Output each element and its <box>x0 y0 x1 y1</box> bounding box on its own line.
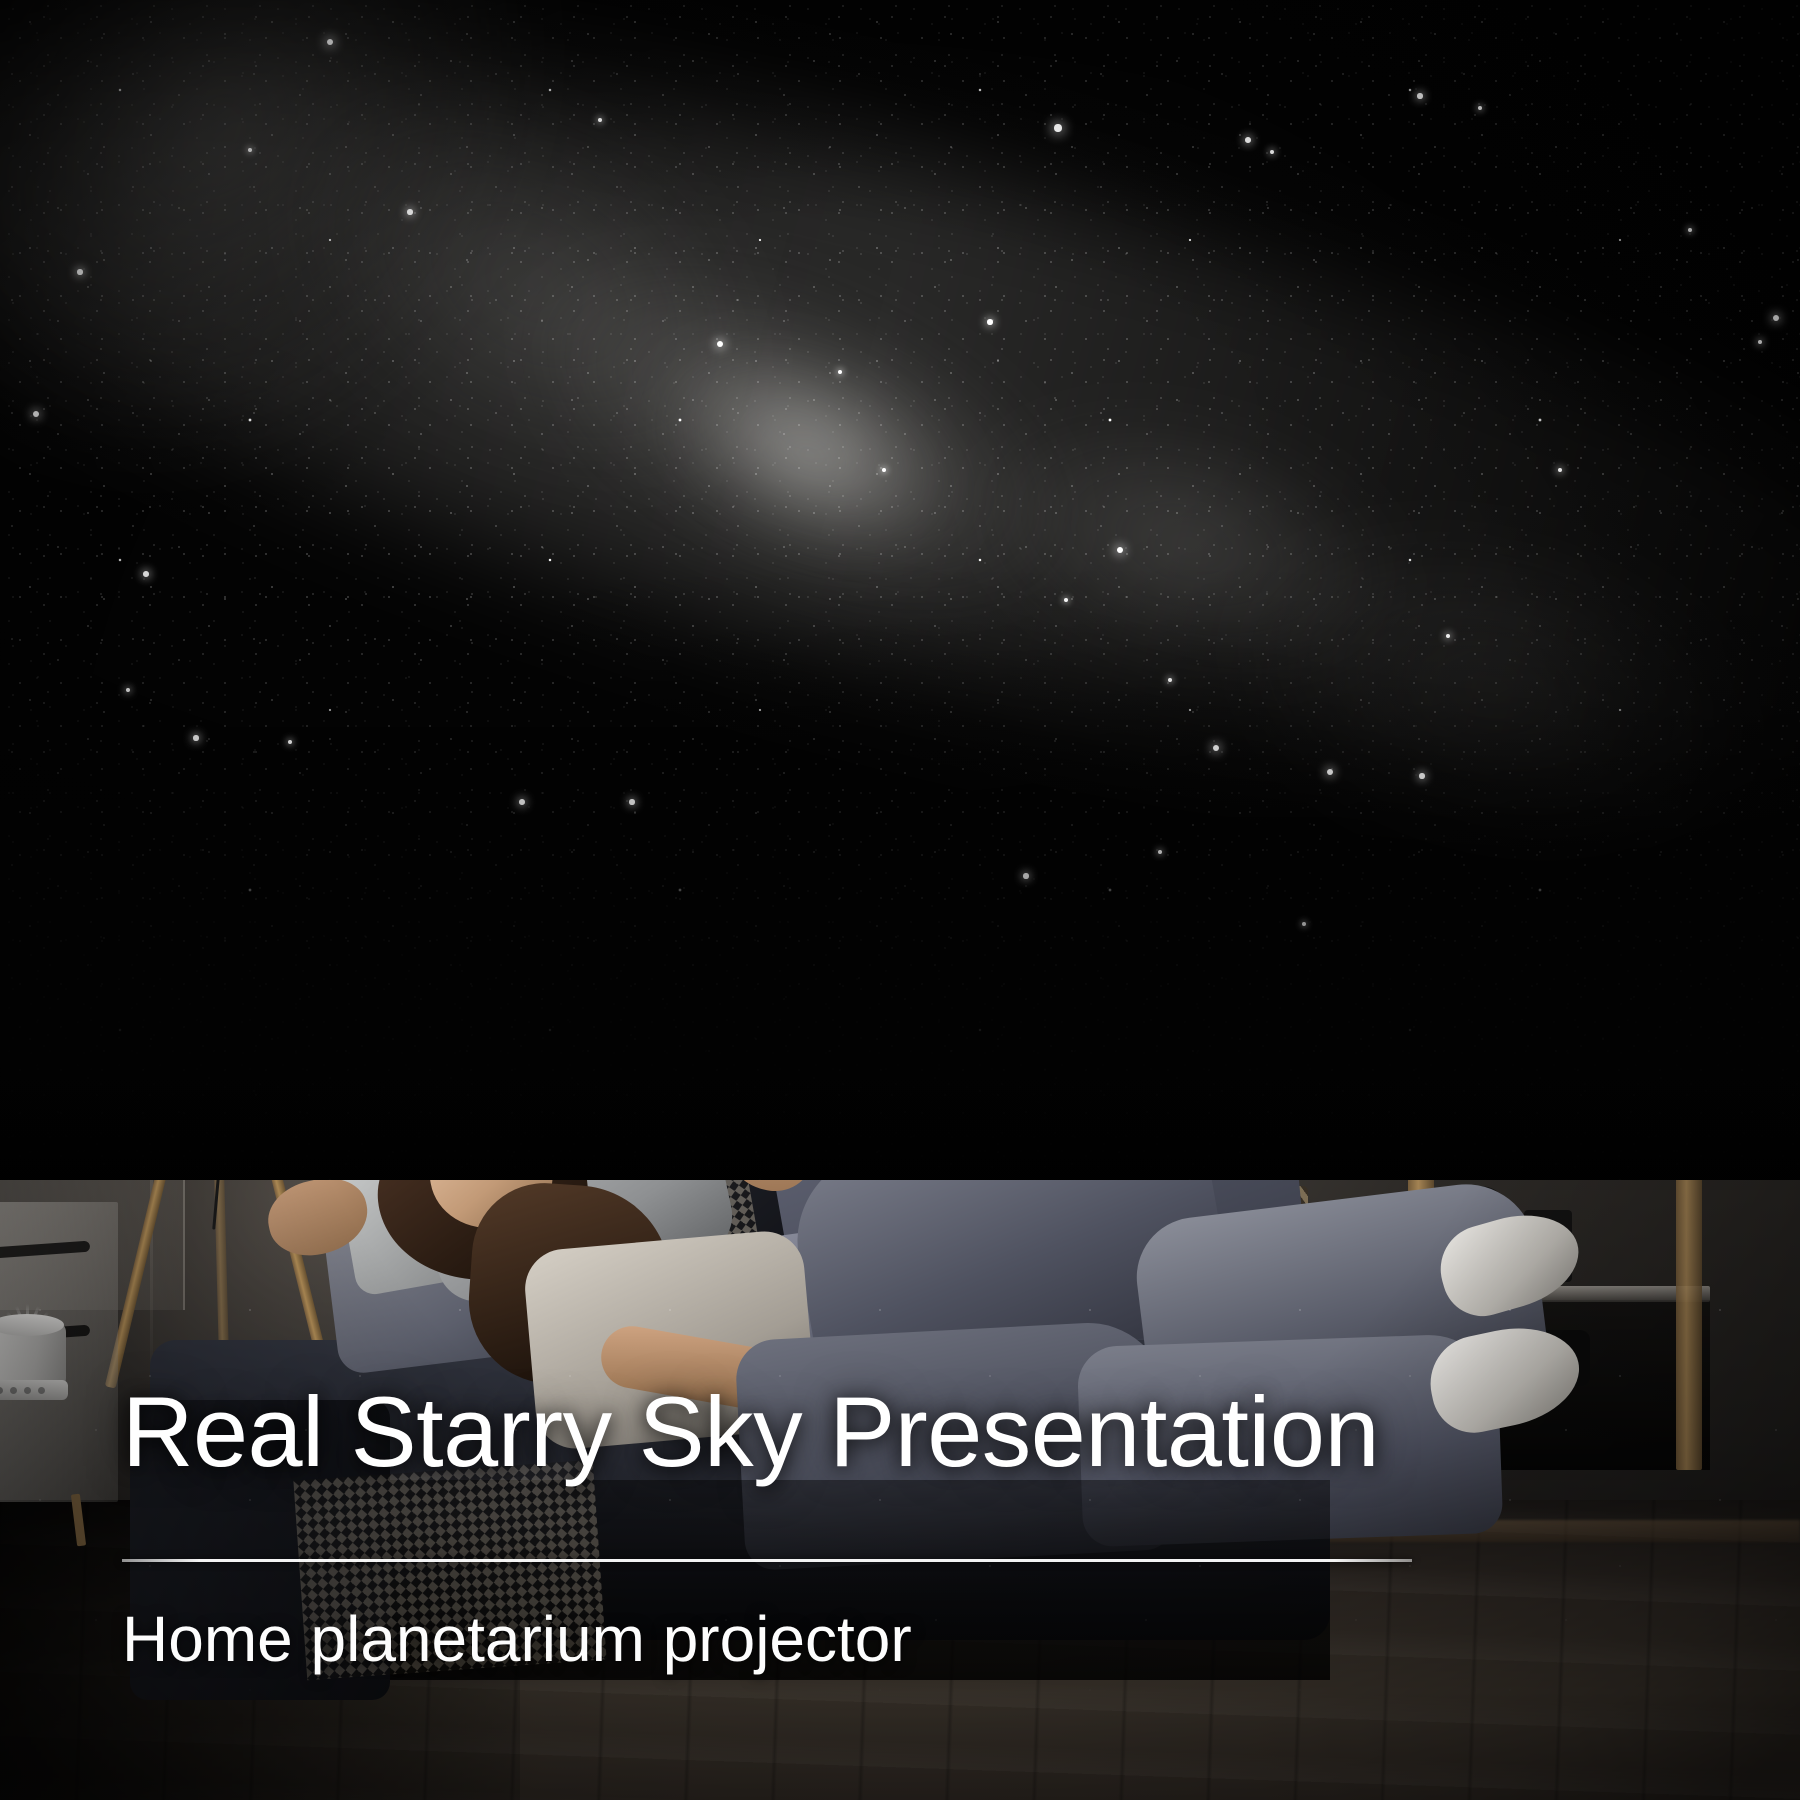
text-overlay: Real Starry Sky Presentation Home planet… <box>0 0 1800 1800</box>
product-image: Real Starry Sky Presentation Home planet… <box>0 0 1800 1800</box>
subheadline: Home planetarium projector <box>122 1607 912 1671</box>
headline: Real Starry Sky Presentation <box>122 1382 1379 1481</box>
divider-rule <box>122 1559 1412 1562</box>
